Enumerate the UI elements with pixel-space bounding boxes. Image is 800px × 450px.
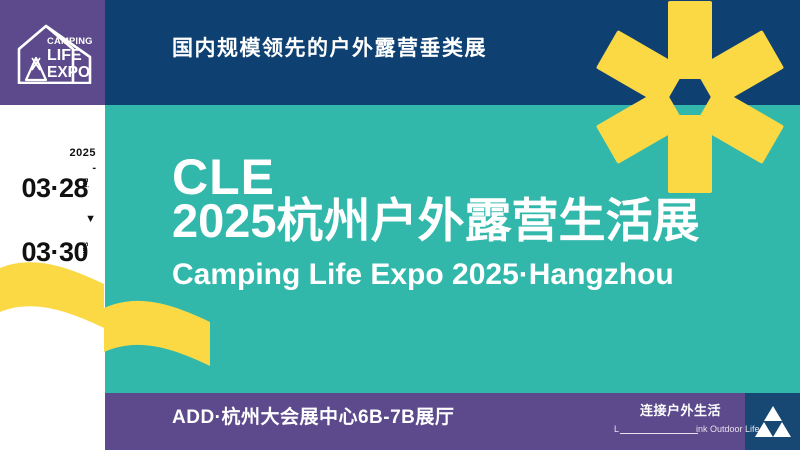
slogan-underline-rule: [620, 433, 698, 434]
camping-life-expo-logo: CAMPING LIFE EXPO: [16, 22, 94, 84]
logo-line-life: LIFE: [47, 47, 82, 64]
six-point-asterisk-icon: [585, 0, 795, 195]
poster-canvas: CAMPING LIFE EXPO 2025 - 03·28 Fri. ▼ 03…: [0, 0, 800, 450]
event-date-block: 2025 - 03·28 Fri. ▼ 03·30 Sun.: [0, 148, 105, 268]
date-start-weekday: Fri.: [81, 178, 88, 190]
venue-address: ADD·杭州大会展中心6B-7B展厅: [172, 408, 454, 427]
slogan-english: L ink Outdoor Life: [614, 424, 742, 438]
title-english: Camping Life Expo 2025·Hangzhou: [172, 258, 674, 291]
slogan-english-tail: ink Outdoor Life: [696, 425, 760, 434]
date-year: 2025: [0, 148, 96, 159]
date-range-caret-icon: ▼: [0, 214, 96, 225]
title-chinese: 2025杭州户外露营生活展: [172, 196, 700, 247]
date-end-number: 03·30: [8, 236, 88, 268]
date-end-row: 03·30 Sun.: [0, 236, 105, 268]
logo-line-expo: EXPO: [47, 64, 90, 81]
triangle-logo-icon: [755, 404, 791, 438]
headline-text: 国内规模领先的户外露营垂类展: [172, 38, 487, 59]
date-start-row: 03·28 Fri.: [0, 172, 105, 204]
slogan-english-lead: L: [614, 425, 619, 434]
date-start-number: 03·28: [8, 172, 88, 204]
logo-line-camping: CAMPING: [47, 35, 93, 46]
date-end-weekday: Sun.: [81, 242, 88, 258]
slogan-chinese: 连接户外生活: [640, 404, 721, 417]
